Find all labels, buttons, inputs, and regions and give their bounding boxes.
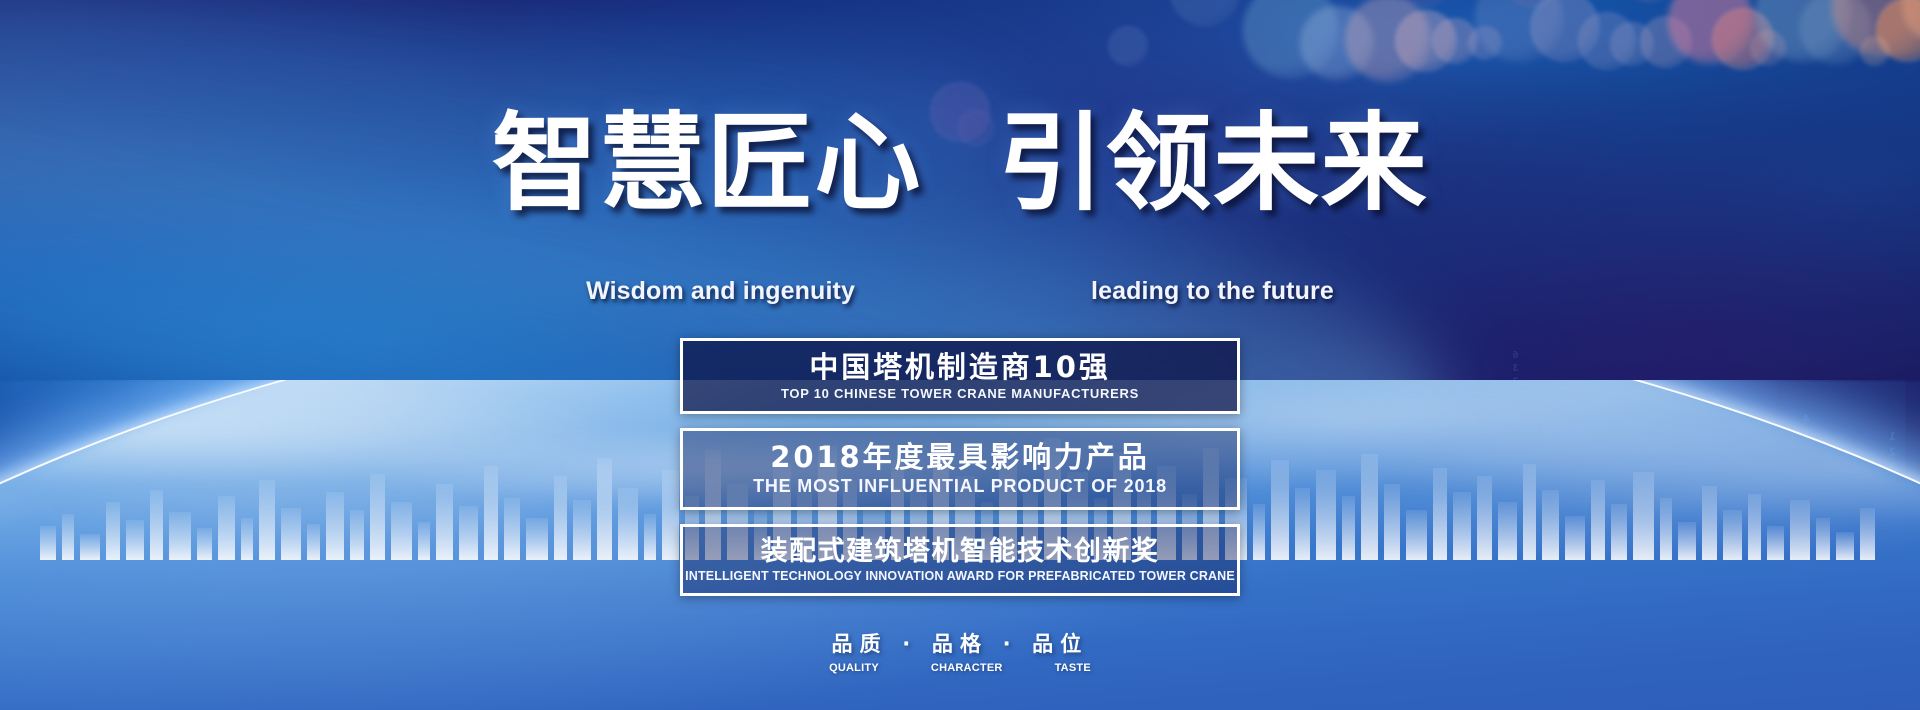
award-badge-innovation: 装配式建筑塔机智能技术创新奖 INTELLIGENT TECHNOLOGY IN…: [680, 524, 1240, 597]
headline-subtitles: Wisdom and ingenuity leading to the futu…: [0, 277, 1920, 306]
award-title-en: INTELLIGENT TECHNOLOGY INNOVATION AWARD …: [683, 569, 1237, 584]
award-title-cn: 2018年度最具影响力产品: [683, 440, 1237, 474]
slogan-en-quality: QUALITY: [829, 662, 879, 674]
award-title-cn: 装配式建筑塔机智能技术创新奖: [683, 536, 1237, 568]
award-badge-top10: 中国塔机制造商10强 TOP 10 CHINESE TOWER CRANE MA…: [680, 338, 1240, 414]
award-title-cn: 中国塔机制造商10强: [683, 350, 1237, 384]
subtitle-right: leading to the future: [1091, 277, 1334, 306]
slogan: 品质 · 品格 · 品位 QUALITY CHARACTER TASTE: [700, 628, 1220, 674]
headline-right: 引领未来: [998, 108, 1428, 220]
banner-content: 智慧匠心 引领未来 Wisdom and ingenuity leading t…: [0, 0, 1920, 710]
award-title-en: TOP 10 CHINESE TOWER CRANE MANUFACTURERS: [683, 386, 1237, 402]
award-badge-influential-product: 2018年度最具影响力产品 THE MOST INFLUENTIAL PRODU…: [680, 428, 1240, 510]
slogan-en-character: CHARACTER: [931, 662, 1003, 674]
headline: 智慧匠心 引领未来: [0, 108, 1920, 220]
slogan-cn: 品质 · 品格 · 品位: [700, 628, 1220, 658]
slogan-en: QUALITY CHARACTER TASTE: [700, 662, 1220, 674]
subtitle-left: Wisdom and ingenuity: [586, 277, 855, 306]
headline-left: 智慧匠心: [492, 108, 922, 220]
slogan-en-taste: TASTE: [1055, 662, 1091, 674]
award-list: 中国塔机制造商10强 TOP 10 CHINESE TOWER CRANE MA…: [680, 338, 1240, 596]
promotional-banner: 0123456789016379012456637901241234567890…: [0, 0, 1920, 710]
award-title-en: THE MOST INFLUENTIAL PRODUCT OF 2018: [683, 476, 1237, 498]
